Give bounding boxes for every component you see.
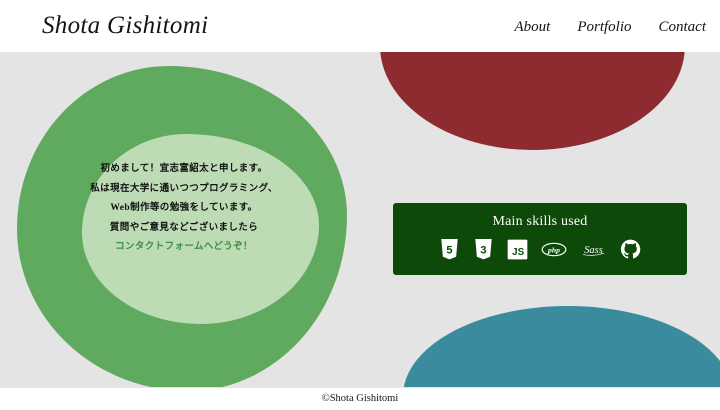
svg-text:3: 3: [480, 245, 486, 257]
decorative-red-blob: [380, 52, 685, 150]
site-header: Shota Gishitomi About Portfolio Contact: [0, 0, 720, 52]
nav-item-contact[interactable]: Contact: [659, 19, 707, 36]
contact-form-link[interactable]: コンタクトフォームへどうぞ！: [60, 238, 308, 258]
main-skills-card: Main skills used 5 3 JS php: [393, 203, 687, 275]
intro-text-block: 初めまして！宜志富紹太と申します。 私は現在大学に通いつつプログラミング、 We…: [60, 160, 308, 258]
intro-line-2: 私は現在大学に通いつつプログラミング、: [60, 180, 308, 200]
main-canvas: 初めまして！宜志富紹太と申します。 私は現在大学に通いつつプログラミング、 We…: [0, 52, 720, 387]
skills-card-title: Main skills used: [393, 214, 687, 230]
decorative-teal-blob: [403, 306, 720, 387]
intro-line-4: 質問やご意見などございましたら: [60, 219, 308, 239]
site-title: Shota Gishitomi: [42, 12, 208, 40]
svg-text:5: 5: [446, 245, 452, 257]
svg-text:JS: JS: [512, 247, 524, 258]
intro-line-1: 初めまして！宜志富紹太と申します。: [60, 160, 308, 180]
nav-item-portfolio[interactable]: Portfolio: [577, 19, 631, 36]
css3-icon: 3: [473, 239, 494, 260]
php-icon: php: [541, 239, 567, 260]
js-icon: JS: [507, 239, 528, 260]
github-icon: [620, 239, 641, 260]
html5-icon: 5: [439, 239, 460, 260]
site-footer: ©Shota Gishitomi: [0, 387, 720, 410]
skills-icon-row: 5 3 JS php Sass: [393, 239, 687, 260]
intro-line-3: Web制作等の勉強をしています。: [60, 199, 308, 219]
footer-copyright: ©Shota Gishitomi: [0, 388, 720, 410]
svg-text:php: php: [547, 245, 560, 254]
main-navigation: About Portfolio Contact: [514, 19, 706, 36]
sass-icon: Sass: [580, 239, 607, 260]
nav-item-about[interactable]: About: [514, 19, 550, 36]
